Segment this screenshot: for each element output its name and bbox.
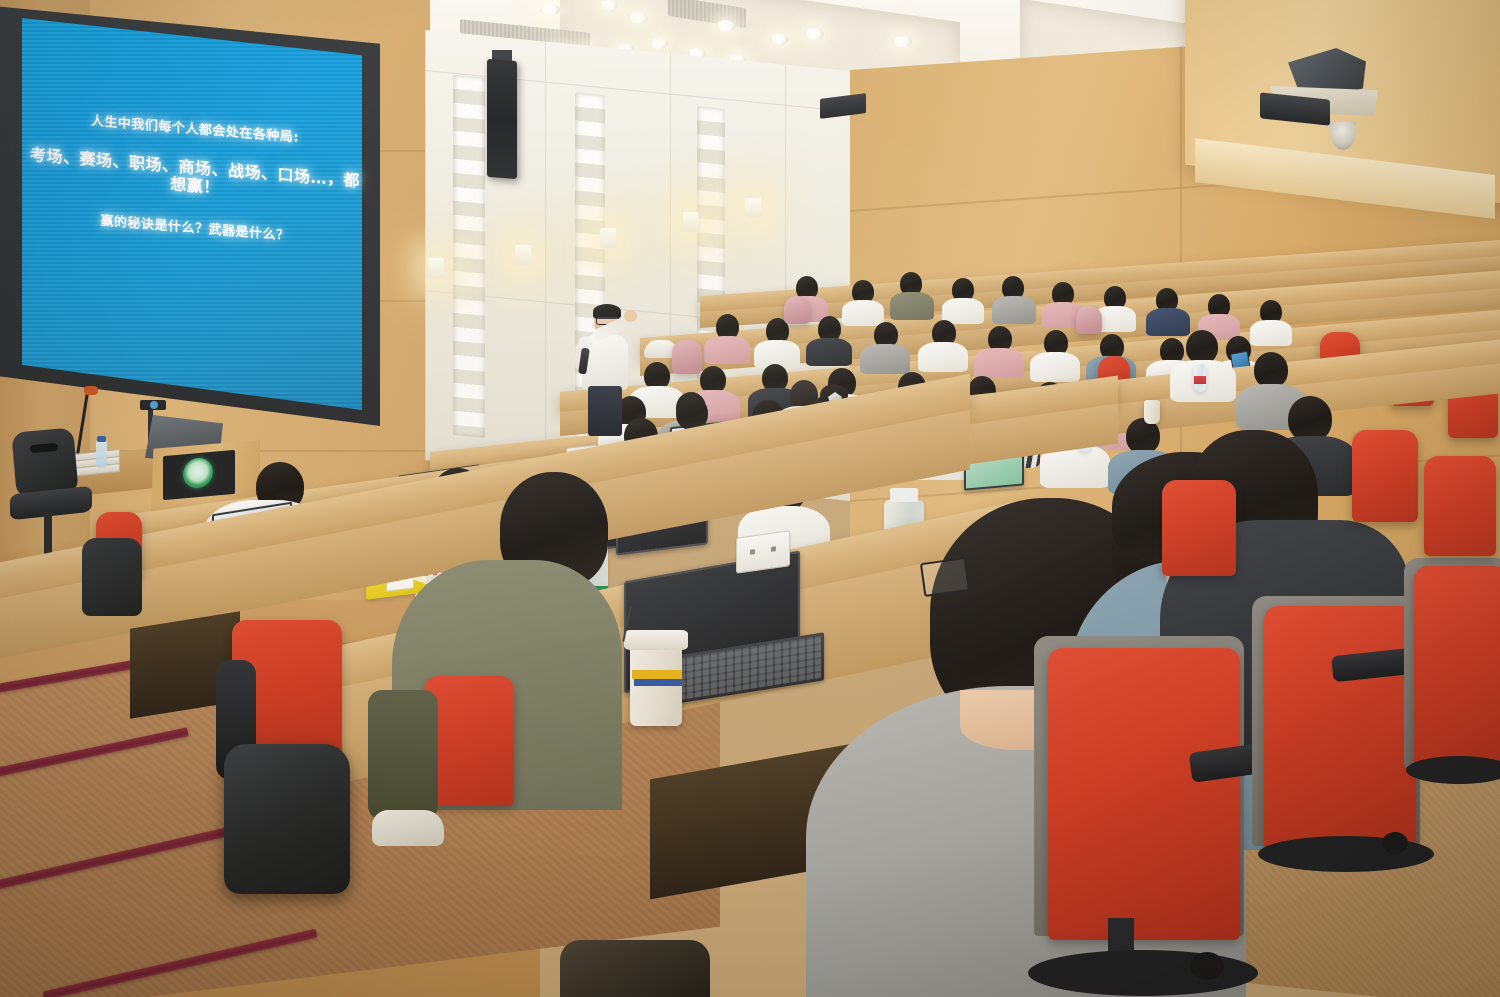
chair-pink[interactable] [672,340,702,374]
attendee-torso [842,300,884,326]
attendee-torso [1250,320,1292,346]
chair-pink[interactable] [784,296,810,324]
cup-band-blue [634,679,682,686]
led-presentation-screen[interactable] [22,18,362,410]
bottle-label [1194,376,1206,384]
downlight [716,20,736,32]
coffee-cup [1144,400,1160,424]
attendee-shoe [372,810,444,846]
chair-red[interactable] [1414,566,1500,770]
downlight [540,4,560,16]
attendee-torso [806,338,852,366]
eyeglasses-icon [920,557,970,597]
wall-sconce [683,212,699,232]
wall-sconce [428,258,444,278]
chair-red[interactable] [1352,430,1418,522]
wall-sconce [600,228,616,248]
downlight [804,28,824,40]
cup-band-yellow [632,670,682,679]
chair-red-foreground[interactable] [1048,648,1240,940]
wall-relief-strip [453,75,485,438]
backpack [82,538,142,616]
attendee-head [1254,352,1288,388]
speaker-hand [624,310,637,322]
downlight [628,12,648,24]
attendee-torso [1030,352,1080,382]
speaker-trousers [588,386,622,436]
attendee-torso [974,348,1024,378]
chair-red[interactable] [1162,480,1236,576]
attendee-torso [992,296,1036,324]
lecture-hall-photo: 人生中我们每个人都会处在各种局: 考场、赛场、职场、商场、战场、口场…，都想赢！… [0,0,1500,997]
bottle-cap [890,488,918,502]
bottle-cap [97,436,106,442]
backpack-foreground [224,744,350,894]
downlight [650,38,668,49]
water-bottle [96,440,107,468]
attendee-torso [860,344,910,374]
chair-red[interactable] [1264,606,1416,850]
chair-base [1028,950,1258,996]
attendee-head [1186,330,1218,364]
power-socket[interactable] [736,530,790,574]
chair-caster [1190,952,1224,980]
attendee-torso [918,342,968,372]
chair-pink[interactable] [1076,306,1102,334]
backpack-under-desk [560,940,710,997]
wall-sconce [745,198,761,218]
attendee-legs [368,690,438,820]
downlight [892,36,912,48]
camera-lens-icon [150,401,158,409]
downlight [770,34,788,45]
chair-caster [1382,832,1408,854]
microphone-icon [84,386,98,395]
attendee-torso [704,336,750,364]
downlight [600,0,618,11]
cup-lid [624,630,688,650]
attendee-torso [1146,308,1190,336]
wall-sconce [515,245,531,265]
chair-red[interactable] [1424,456,1496,556]
line-array-speaker [487,59,517,179]
attendee-torso [890,292,934,320]
